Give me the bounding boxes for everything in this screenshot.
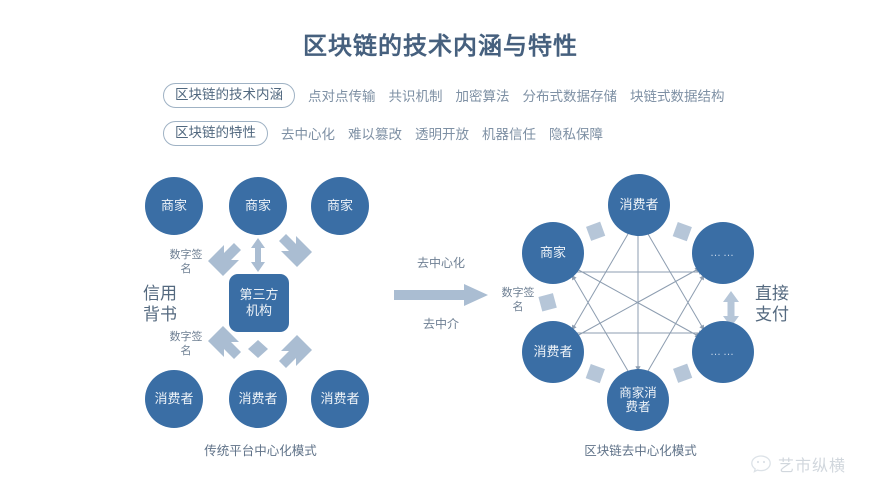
node-label: …… <box>710 247 736 260</box>
transition-label-disintermediation: 去中介 <box>404 317 478 333</box>
left-node-consumer-1: 消费者 <box>145 370 203 428</box>
node-label: 消费者 <box>533 345 572 360</box>
watermark: 艺市纵横 <box>750 452 846 476</box>
page-title: 区块链的技术内涵与特性 <box>0 26 881 61</box>
transition-arrow-icon <box>394 284 490 306</box>
label-direct-payment: 直接支付 <box>752 283 792 326</box>
right-node-ellipsis-upper: …… <box>692 222 754 284</box>
tag-item-encryption[interactable]: 加密算法 <box>456 85 510 105</box>
left-node-third-party: 第三方机构 <box>229 274 289 332</box>
tag-row-technical-connotation: 区块链的技术内涵 点对点传输 共识机制 加密算法 分布式数据存储 块链式数据结构 <box>163 83 725 108</box>
tag-item-p2p[interactable]: 点对点传输 <box>308 85 376 105</box>
node-label: 商家消费者 <box>617 386 659 415</box>
left-node-consumer-3: 消费者 <box>311 370 369 428</box>
right-node-merchant-consumer: 商家消费者 <box>607 369 669 431</box>
node-label: 商家 <box>245 199 271 214</box>
node-label: …… <box>710 346 736 359</box>
tag-item-consensus[interactable]: 共识机制 <box>389 85 443 105</box>
transition-label-decentralize: 去中心化 <box>404 256 478 272</box>
tag-item-machine-trust[interactable]: 机器信任 <box>482 123 536 143</box>
label-digital-signature-right-diagram: 数字签名 <box>500 286 536 315</box>
tag-row-characteristics: 区块链的特性 去中心化 难以篡改 透明开放 机器信任 隐私保障 <box>163 121 603 146</box>
tag-item-transparent[interactable]: 透明开放 <box>415 123 469 143</box>
right-node-consumer-top: 消费者 <box>608 174 670 236</box>
label-credit-endorsement: 信用背书 <box>140 283 180 326</box>
node-label: 消费者 <box>154 392 193 407</box>
left-node-merchant-1: 商家 <box>145 177 203 235</box>
node-label: 商家 <box>327 199 353 214</box>
node-label: 消费者 <box>238 392 277 407</box>
tag-item-decentralized[interactable]: 去中心化 <box>281 123 335 143</box>
right-node-merchant: 商家 <box>522 222 584 284</box>
tag-item-tamper-resistant[interactable]: 难以篡改 <box>348 123 402 143</box>
node-label: 商家 <box>161 199 187 214</box>
right-diagram-caption: 区块链去中心化模式 <box>558 440 723 459</box>
node-label: 第三方机构 <box>236 287 282 318</box>
tag-item-chain-structure[interactable]: 块链式数据结构 <box>630 85 725 105</box>
wechat-bubble-icon <box>750 454 772 474</box>
tag-item-distributed-storage[interactable]: 分布式数据存储 <box>523 85 618 105</box>
node-label: 消费者 <box>619 198 658 213</box>
left-diagram-caption: 传统平台中心化模式 <box>178 440 343 459</box>
tag-pill-technical-connotation[interactable]: 区块链的技术内涵 <box>163 83 295 108</box>
left-node-consumer-2: 消费者 <box>229 370 287 428</box>
tag-pill-characteristics[interactable]: 区块链的特性 <box>163 121 268 146</box>
watermark-text: 艺市纵横 <box>778 452 846 476</box>
node-label: 消费者 <box>320 392 359 407</box>
right-node-consumer-left: 消费者 <box>522 321 584 383</box>
slide-canvas: 区块链的技术内涵与特性 区块链的技术内涵 点对点传输 共识机制 加密算法 分布式… <box>0 0 881 500</box>
label-digital-signature-bottom: 数字签名 <box>168 330 204 359</box>
left-node-merchant-2: 商家 <box>229 177 287 235</box>
right-node-ellipsis-lower: …… <box>692 321 754 383</box>
label-digital-signature-top: 数字签名 <box>168 248 204 277</box>
node-label: 商家 <box>540 246 566 261</box>
tag-item-privacy[interactable]: 隐私保障 <box>549 123 603 143</box>
left-node-merchant-3: 商家 <box>311 177 369 235</box>
